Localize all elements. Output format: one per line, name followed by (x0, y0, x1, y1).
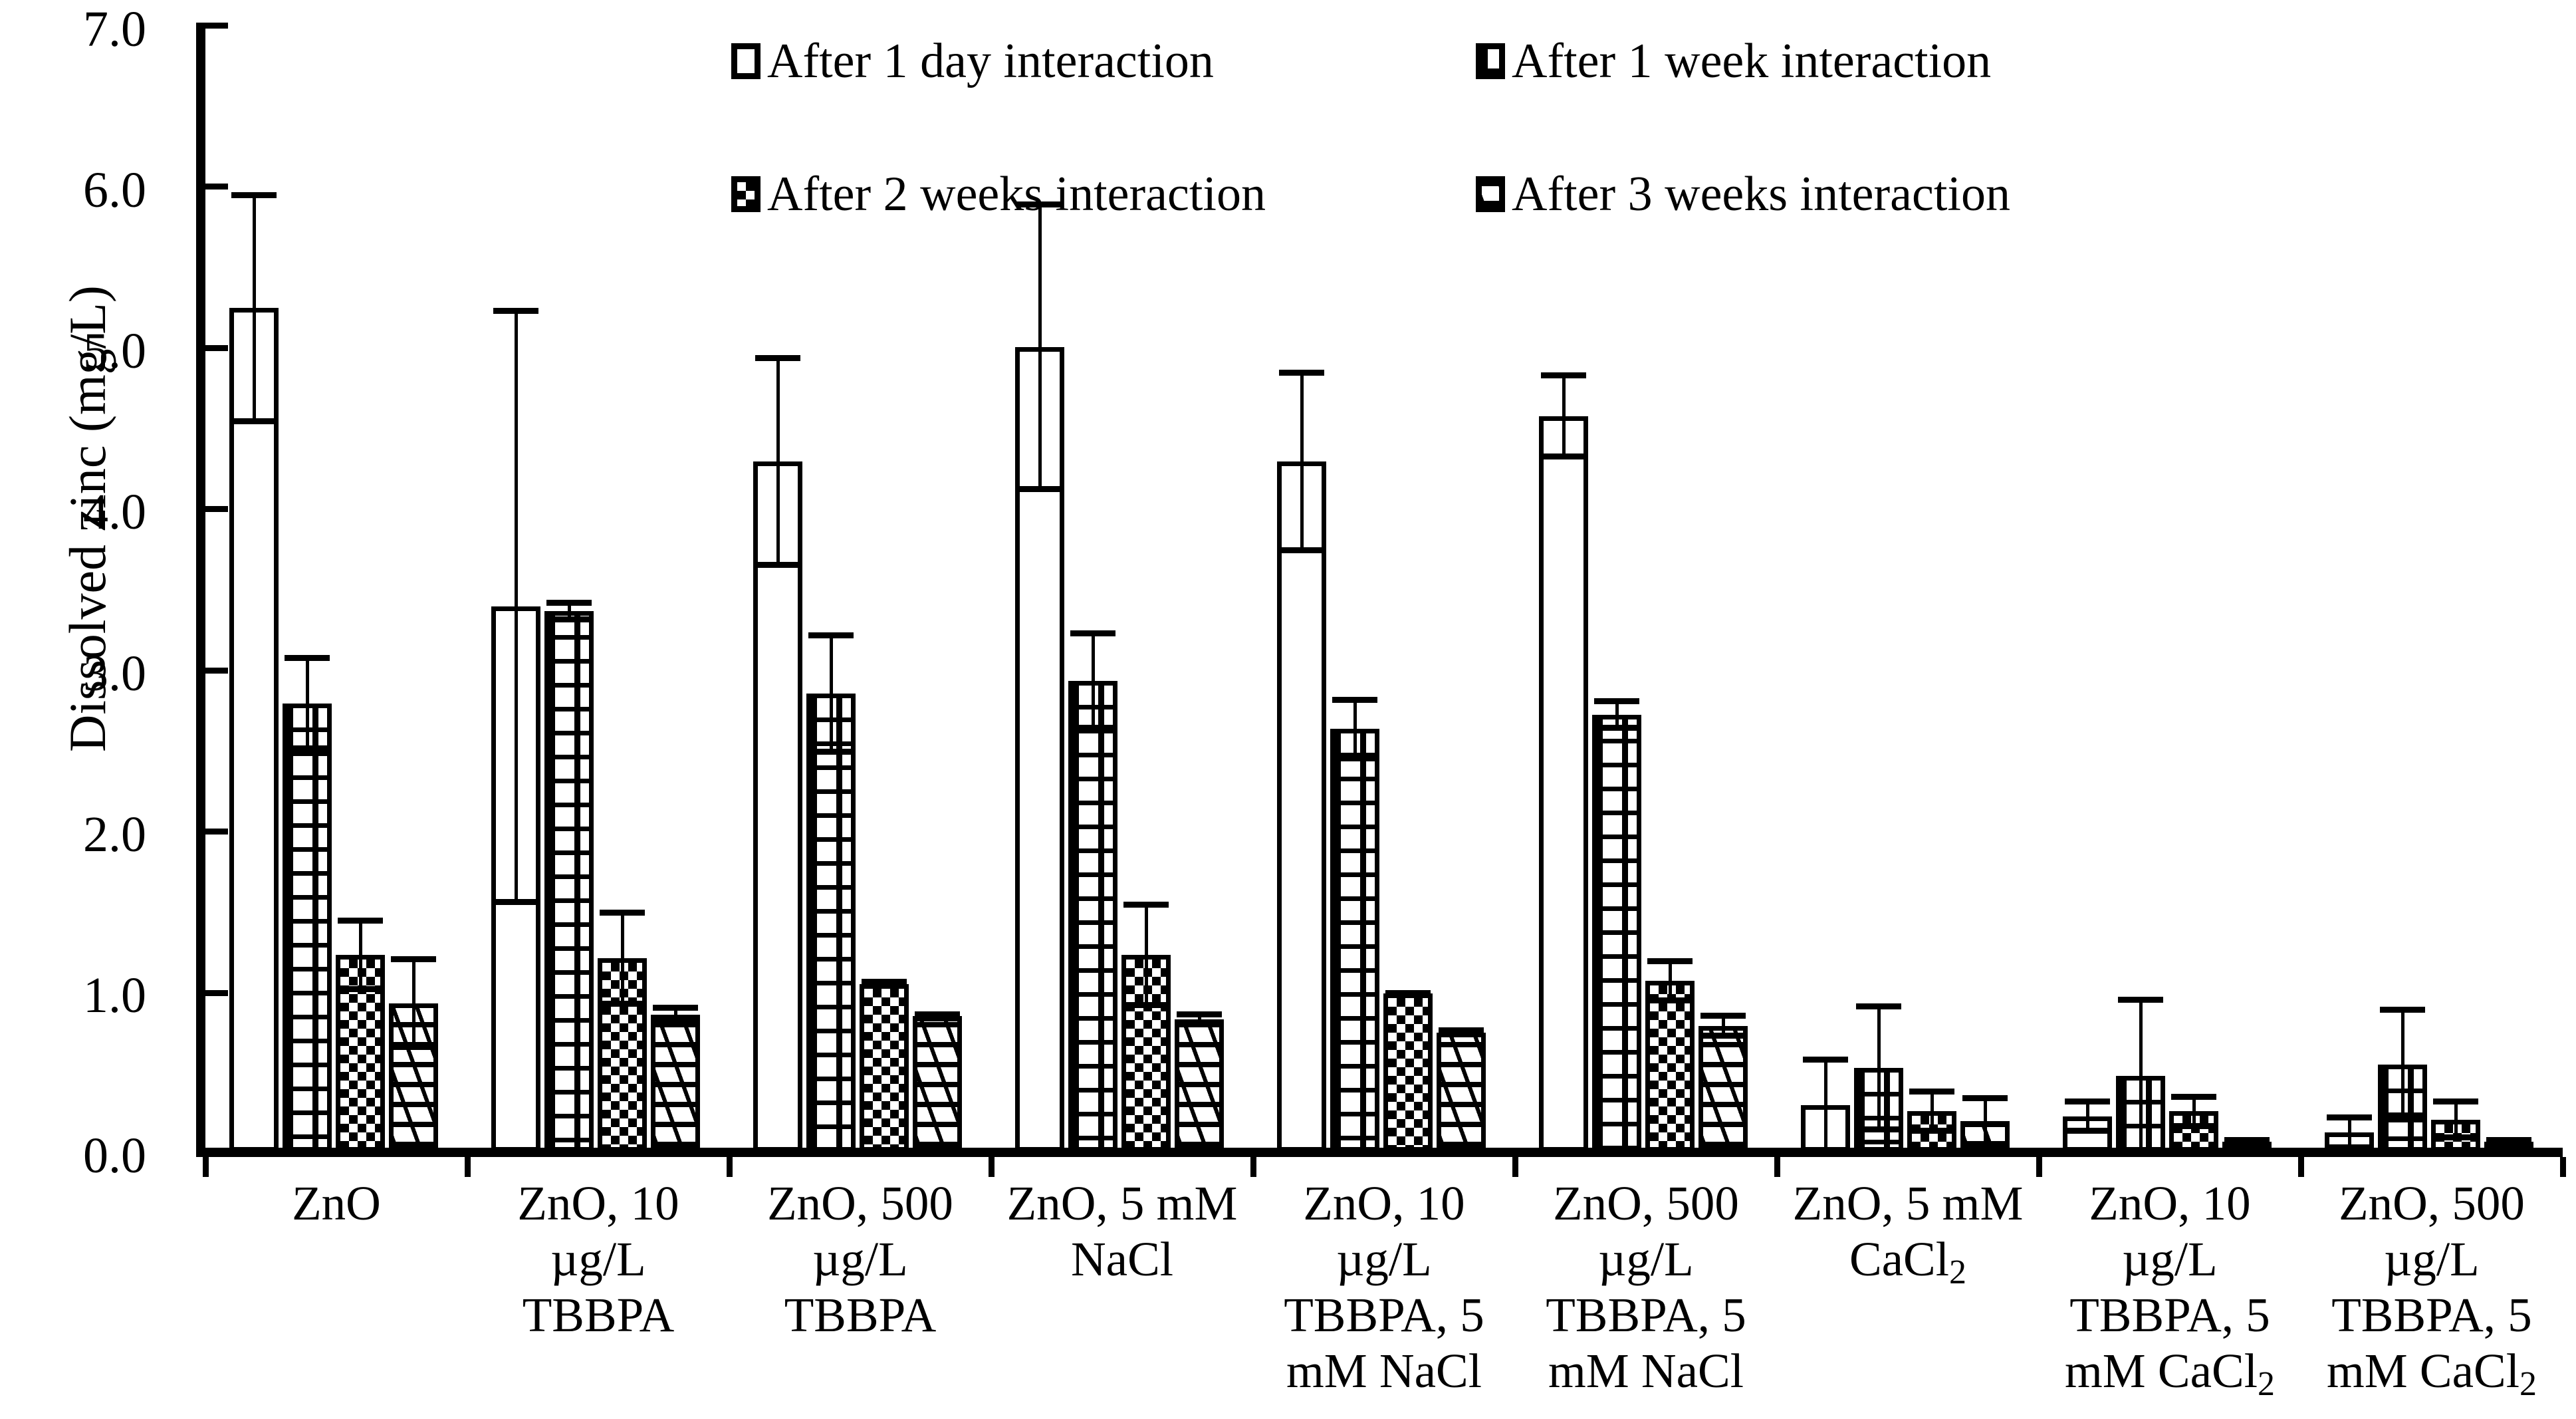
x-axis-label: ZnO, 500µg/LTBBPA (729, 1176, 991, 1343)
bar-dots[interactable] (806, 694, 856, 1152)
bar-wave[interactable] (1175, 1019, 1224, 1152)
legend-item-1-week[interactable]: After 1 week interaction (1476, 37, 1991, 86)
x-axis-label: ZnO, 10µg/LTBBPA (467, 1176, 729, 1343)
error-bar-stem (1092, 630, 1095, 730)
y-tick-label: 6.0 (0, 165, 146, 215)
bar-checker[interactable] (1383, 993, 1433, 1152)
error-bar-cap-bottom (862, 983, 907, 989)
error-bar-stem (253, 192, 256, 424)
error-bar-stem (306, 655, 309, 752)
x-axis-label: ZnO, 5 mMCaCl2 (1777, 1176, 2039, 1301)
error-bar-stem (515, 308, 518, 905)
x-axis-label-line: ZnO, 5 mM (1777, 1176, 2039, 1231)
x-axis-label: ZnO, 500µg/LTBBPA, 5mM CaCl2 (2301, 1176, 2563, 1412)
error-bar-cap-top (755, 355, 800, 361)
error-bar-cap-top (2380, 1007, 2425, 1013)
error-bar-cap-bottom (1856, 1126, 1901, 1132)
error-bar-cap-bottom (1070, 725, 1115, 731)
error-bar-cap-top (2433, 1098, 2478, 1104)
x-axis-label-line: ZnO, 5 mM (991, 1176, 1253, 1231)
x-axis-label-line: mM NaCl (1515, 1343, 1777, 1399)
x-axis-label-line: mM CaCl2 (2039, 1343, 2301, 1412)
x-axis-tick (727, 1157, 733, 1177)
bar-wave[interactable] (913, 1016, 962, 1152)
error-bar-cap-top (493, 308, 538, 314)
error-bar-cap-top (1541, 372, 1586, 378)
y-tick-label: 3.0 (0, 648, 146, 699)
x-axis-label-line: TBBPA, 5 (2039, 1287, 2301, 1343)
error-bar-stem (1145, 902, 1148, 1008)
error-bar-cap-top (1177, 1011, 1222, 1017)
x-axis-label-line: TBBPA, 5 (1253, 1287, 1515, 1343)
y-tick-label: 4.0 (0, 487, 146, 537)
error-bar-stem (1562, 372, 1566, 459)
x-axis-label: ZnO, 10µg/LTBBPA, 5mM NaCl (1253, 1176, 1515, 1399)
error-bar-cap-bottom (755, 562, 800, 568)
error-bar-stem (1353, 697, 1357, 761)
error-bar-cap-top (1962, 1095, 2008, 1101)
error-bar-cap-bottom (1439, 1031, 1484, 1037)
error-bar-stem (412, 956, 415, 1050)
x-axis-label-line: µg/L (2039, 1231, 2301, 1287)
x-axis-label-line: ZnO (205, 1176, 467, 1231)
error-bar-cap-top (1279, 370, 1324, 376)
error-bar-cap-bottom (285, 745, 330, 751)
x-axis-label-line: ZnO, 500 (2301, 1176, 2563, 1231)
chart-figure: Dissolved zinc (mg/L) 7.0 6.0 5.0 4.0 3.… (0, 0, 2576, 1419)
x-axis-label-line: µg/L (467, 1231, 729, 1287)
swatch-checker-icon (731, 176, 761, 212)
error-bar-cap-bottom (391, 1044, 436, 1050)
x-axis-label-line: NaCl (991, 1231, 1253, 1287)
x-axis-label-line: TBBPA (729, 1287, 991, 1343)
x-axis-label-line: µg/L (729, 1231, 991, 1287)
x-axis-tick (2560, 1157, 2566, 1177)
y-axis-line (196, 23, 205, 1154)
error-bar-cap-bottom (915, 1015, 960, 1021)
error-bar-stem (1038, 201, 1042, 492)
error-bar-cap-bottom (1332, 755, 1377, 761)
error-bar-cap-top (231, 192, 277, 198)
x-axis-label: ZnO, 5 mMNaCl (991, 1176, 1253, 1287)
error-bar-cap-bottom (1385, 991, 1431, 997)
error-bar-cap-bottom (1177, 1021, 1222, 1027)
error-bar-stem (1669, 958, 1672, 1003)
error-bar-stem (2139, 997, 2143, 1155)
error-bar-stem (1877, 1003, 1881, 1132)
bar-wave[interactable] (1698, 1026, 1748, 1152)
error-bar-cap-bottom (2380, 1116, 2425, 1122)
bar-dots[interactable] (283, 704, 332, 1152)
legend-label: After 1 day interaction (767, 37, 1214, 86)
error-bar-cap-bottom (600, 1001, 645, 1007)
error-bar-cap-bottom (1594, 725, 1639, 731)
error-bar-cap-top (653, 1005, 698, 1011)
error-bar-cap-bottom (1803, 1147, 1848, 1153)
error-bar-stem (2401, 1007, 2404, 1123)
error-bar-cap-bottom (493, 899, 538, 905)
error-bar-cap-bottom (1017, 486, 1062, 492)
swatch-dots-icon (1476, 43, 1505, 79)
error-bar-cap-bottom (1647, 997, 1693, 1003)
x-axis-label-line: ZnO, 500 (1515, 1176, 1777, 1231)
error-bar-stem (776, 355, 780, 568)
bar-group (467, 23, 729, 1152)
error-bar-stem (1984, 1095, 1987, 1147)
error-bar-stem (830, 632, 833, 755)
error-bar-cap-bottom (2433, 1134, 2478, 1140)
error-bar-cap-top (546, 600, 592, 606)
error-bar-cap-top (2327, 1114, 2372, 1120)
error-bar-cap-top (1856, 1003, 1901, 1009)
x-axis-label-line: CaCl2 (1777, 1231, 2039, 1301)
bar-plain[interactable] (229, 308, 279, 1152)
error-bar-cap-top (1070, 630, 1115, 636)
error-bar-cap-bottom (2486, 1141, 2531, 1147)
x-axis-tick (2298, 1157, 2304, 1177)
x-axis-tick (465, 1157, 471, 1177)
error-bar-cap-top (808, 632, 854, 638)
error-bar-cap-top (2065, 1098, 2110, 1104)
error-bar-cap-bottom (1279, 547, 1324, 553)
legend-label: After 3 weeks interaction (1512, 170, 2010, 219)
x-axis-label: ZnO (205, 1176, 467, 1231)
error-bar-cap-bottom (1541, 453, 1586, 459)
error-bar-cap-bottom (1909, 1128, 1954, 1134)
chart-legend: After 1 day interaction After 1 week int… (731, 37, 2327, 223)
error-bar-cap-bottom (653, 1018, 698, 1024)
x-axis-label-line: TBBPA (467, 1287, 729, 1343)
error-bar-cap-top (338, 918, 383, 924)
error-bar-cap-top (1700, 1013, 1746, 1019)
bar-group (205, 23, 467, 1152)
error-bar-cap-bottom (338, 986, 383, 992)
x-axis-label-line: µg/L (1253, 1231, 1515, 1287)
error-bar-cap-bottom (546, 616, 592, 622)
legend-item-1-day[interactable]: After 1 day interaction (731, 37, 1214, 86)
error-bar-stem (1300, 370, 1304, 554)
bar-wave[interactable] (1437, 1033, 1486, 1152)
y-tick-label: 2.0 (0, 809, 146, 860)
bar-plain[interactable] (1277, 461, 1326, 1152)
error-bar-cap-bottom (1962, 1141, 2008, 1147)
x-axis-label-line: mM CaCl2 (2301, 1343, 2563, 1412)
bar-plain[interactable] (1539, 416, 1588, 1152)
x-axis-label: ZnO, 10µg/LTBBPA, 5mM CaCl2 (2039, 1176, 2301, 1412)
error-bar-cap-top (285, 655, 330, 661)
bar-wave[interactable] (651, 1015, 700, 1152)
bar-checker[interactable] (860, 984, 909, 1152)
error-bar-cap-top (1803, 1057, 1848, 1063)
bar-checker[interactable] (1645, 981, 1695, 1152)
swatch-plain-icon (731, 43, 761, 79)
error-bar-cap-bottom (2118, 1149, 2163, 1155)
bar-dots[interactable] (1068, 681, 1117, 1152)
x-axis-label-line: TBBPA, 5 (1515, 1287, 1777, 1343)
error-bar-stem (359, 918, 362, 992)
error-bar-cap-top (391, 956, 436, 962)
error-bar-cap-top (2171, 1094, 2216, 1100)
error-bar-cap-bottom (2171, 1123, 2216, 1129)
x-axis-label-line: ZnO, 10 (467, 1176, 729, 1231)
error-bar-cap-bottom (808, 749, 854, 755)
bar-dots[interactable] (544, 611, 594, 1152)
error-bar-stem (1931, 1089, 1934, 1134)
error-bar-cap-top (600, 910, 645, 916)
error-bar-cap-top (1647, 958, 1693, 964)
bar-dots[interactable] (1592, 715, 1641, 1152)
y-tick-label: 0.0 (0, 1130, 146, 1181)
bar-group (2301, 23, 2563, 1152)
legend-label: After 2 weeks interaction (767, 170, 1266, 219)
x-axis-label-line: mM NaCl (1253, 1343, 1515, 1399)
error-bar-cap-top (1123, 902, 1169, 908)
legend-item-2-weeks[interactable]: After 2 weeks interaction (731, 170, 1266, 219)
x-axis-tick (1250, 1157, 1256, 1177)
x-axis-label: ZnO, 500µg/LTBBPA, 5mM NaCl (1515, 1176, 1777, 1399)
error-bar-cap-top (2118, 997, 2163, 1003)
x-axis-tick (1774, 1157, 1780, 1177)
error-bar-cap-bottom (2327, 1144, 2372, 1150)
y-tick-label: 5.0 (0, 326, 146, 376)
error-bar-cap-top (1594, 698, 1639, 704)
error-bar-cap-bottom (1700, 1033, 1746, 1039)
x-axis-tick (989, 1157, 995, 1177)
bar-dots[interactable] (1330, 729, 1379, 1152)
error-bar-cap-bottom (231, 418, 277, 424)
error-bar-cap-bottom (1123, 1002, 1169, 1008)
error-bar-cap-bottom (2065, 1128, 2110, 1134)
x-axis-label-line: TBBPA, 5 (2301, 1287, 2563, 1343)
y-tick-label: 1.0 (0, 970, 146, 1021)
x-axis-label-line: ZnO, 500 (729, 1176, 991, 1231)
error-bar-cap-top (1909, 1089, 1954, 1095)
x-axis-tick (2036, 1157, 2042, 1177)
x-axis-label-line: ZnO, 10 (2039, 1176, 2301, 1231)
error-bar-cap-top (1332, 697, 1377, 703)
y-tick-label: 7.0 (0, 4, 146, 55)
x-axis-tick (1512, 1157, 1518, 1177)
error-bar-stem (1824, 1057, 1827, 1154)
swatch-wave-icon (1476, 176, 1505, 212)
error-bar-stem (621, 910, 624, 1007)
legend-item-3-weeks[interactable]: After 3 weeks interaction (1476, 170, 2010, 219)
error-bar-cap-bottom (2224, 1141, 2270, 1147)
x-axis-label-line: µg/L (2301, 1231, 2563, 1287)
x-axis-label-line: ZnO, 10 (1253, 1176, 1515, 1231)
x-axis-label-line: µg/L (1515, 1231, 1777, 1287)
x-axis-tick (203, 1157, 209, 1177)
